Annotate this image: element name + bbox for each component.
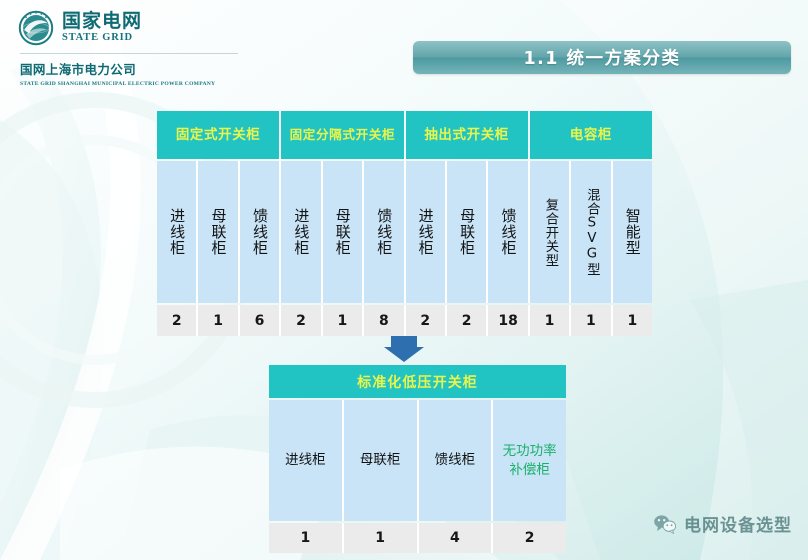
table-column-header-2: 馈线柜 bbox=[240, 161, 279, 303]
table-column-header-9: 复合开关型 bbox=[530, 161, 569, 303]
table-value-4: 1 bbox=[323, 305, 362, 336]
wechat-icon bbox=[653, 514, 677, 534]
column-header-label: 母联柜 bbox=[334, 208, 351, 256]
brand-logo: 国家电网 STATE GRID 国网上海市电力公司 STATE GRID SHA… bbox=[18, 10, 238, 87]
standardized-value-0: 1 bbox=[269, 523, 342, 553]
column-header-label: 混合SVG型 bbox=[583, 188, 598, 276]
table-value-11: 1 bbox=[613, 305, 652, 336]
wechat-watermark: 电网设备选型 bbox=[653, 511, 792, 536]
standardized-value-3: 2 bbox=[493, 523, 566, 553]
table-value-3: 2 bbox=[281, 305, 320, 336]
down-arrow-icon bbox=[383, 336, 425, 363]
brand-name-cn: 国家电网 bbox=[62, 12, 142, 31]
column-header-label: 母联柜 bbox=[210, 208, 227, 256]
table-column-header-row: 进线柜母联柜馈线柜进线柜母联柜馈线柜进线柜母联柜馈线柜复合开关型混合SVG型智能… bbox=[157, 161, 652, 303]
group-header-line: 固定式开关柜 bbox=[176, 127, 261, 144]
standardized-value-1: 1 bbox=[344, 523, 417, 553]
table-column-header-3: 进线柜 bbox=[281, 161, 320, 303]
table-column-header-10: 混合SVG型 bbox=[571, 161, 610, 303]
group-header-line: 电容柜 bbox=[570, 127, 612, 144]
table-value-2: 6 bbox=[240, 305, 279, 336]
table-column-header-4: 母联柜 bbox=[323, 161, 362, 303]
standardized-value-2: 4 bbox=[419, 523, 492, 553]
column-header-label: 进线柜 bbox=[168, 208, 185, 256]
table-value-7: 2 bbox=[447, 305, 486, 336]
state-grid-globe-icon bbox=[18, 10, 54, 46]
standardized-column-label: 无功功率补偿柜 bbox=[503, 442, 557, 478]
table-value-1: 1 bbox=[198, 305, 237, 336]
column-header-label: 馈线柜 bbox=[500, 208, 517, 256]
table-value-6: 2 bbox=[406, 305, 445, 336]
table-column-header-0: 进线柜 bbox=[157, 161, 196, 303]
standardized-table-header: 标准化低压开关柜 bbox=[269, 365, 566, 398]
standardized-column-label: 进线柜 bbox=[285, 451, 326, 469]
column-header-label: 智能型 bbox=[624, 208, 641, 256]
table-column-header-6: 进线柜 bbox=[406, 161, 445, 303]
table-value-5: 8 bbox=[364, 305, 403, 336]
standardized-column-label: 馈线柜 bbox=[435, 451, 476, 469]
standardized-column-header-1: 母联柜 bbox=[344, 400, 417, 521]
table-value-row: 2162182218111 bbox=[157, 305, 652, 336]
logo-divider bbox=[20, 53, 238, 54]
table-group-header-row: 固定式开关柜固定分隔式开关柜抽出式开关柜电容柜 bbox=[157, 111, 652, 159]
brand-sub-cn: 国网上海市电力公司 bbox=[20, 59, 238, 78]
standardized-column-header-3: 无功功率补偿柜 bbox=[493, 400, 566, 521]
table-group-header-3: 电容柜 bbox=[530, 111, 652, 159]
group-header-line: 固定分隔式 bbox=[290, 127, 356, 143]
table-value-9: 1 bbox=[530, 305, 569, 336]
classification-table: 固定式开关柜固定分隔式开关柜抽出式开关柜电容柜 进线柜母联柜馈线柜进线柜母联柜馈… bbox=[157, 111, 652, 336]
slide-title-banner: 1.1 统一方案分类 bbox=[413, 41, 791, 74]
table-column-header-11: 智能型 bbox=[613, 161, 652, 303]
group-header-line: 抽出式开关柜 bbox=[424, 127, 509, 144]
table-group-header-1: 固定分隔式开关柜 bbox=[281, 111, 403, 159]
table-column-header-7: 母联柜 bbox=[447, 161, 486, 303]
column-header-label: 馈线柜 bbox=[251, 208, 268, 256]
table-group-header-0: 固定式开关柜 bbox=[157, 111, 279, 159]
slide-title-text: 1.1 统一方案分类 bbox=[523, 45, 680, 70]
standardized-column-label: 母联柜 bbox=[360, 451, 401, 469]
table-value-10: 1 bbox=[571, 305, 610, 336]
column-header-label: 进线柜 bbox=[293, 208, 310, 256]
table-column-header-8: 馈线柜 bbox=[488, 161, 527, 303]
standardized-value-row: 1142 bbox=[269, 523, 566, 553]
column-header-label: 进线柜 bbox=[417, 208, 434, 256]
watermark-text: 电网设备选型 bbox=[684, 511, 792, 536]
standardized-column-header-2: 馈线柜 bbox=[419, 400, 492, 521]
standardized-table: 标准化低压开关柜 进线柜母联柜馈线柜无功功率补偿柜 1142 bbox=[269, 365, 566, 553]
column-header-label: 母联柜 bbox=[458, 208, 475, 256]
table-column-header-1: 母联柜 bbox=[198, 161, 237, 303]
column-header-label: 馈线柜 bbox=[375, 208, 392, 256]
group-header-line: 开关柜 bbox=[356, 127, 396, 143]
brand-name-en: STATE GRID bbox=[62, 33, 142, 44]
brand-sub-en: STATE GRID SHANGHAI MUNICIPAL ELECTRIC P… bbox=[20, 81, 238, 87]
table-group-header-2: 抽出式开关柜 bbox=[406, 111, 528, 159]
standardized-column-header-row: 进线柜母联柜馈线柜无功功率补偿柜 bbox=[269, 400, 566, 521]
table-value-0: 2 bbox=[157, 305, 196, 336]
table-column-header-5: 馈线柜 bbox=[364, 161, 403, 303]
table-value-8: 18 bbox=[488, 305, 527, 336]
standardized-column-header-0: 进线柜 bbox=[269, 400, 342, 521]
column-header-label: 复合开关型 bbox=[542, 198, 557, 267]
